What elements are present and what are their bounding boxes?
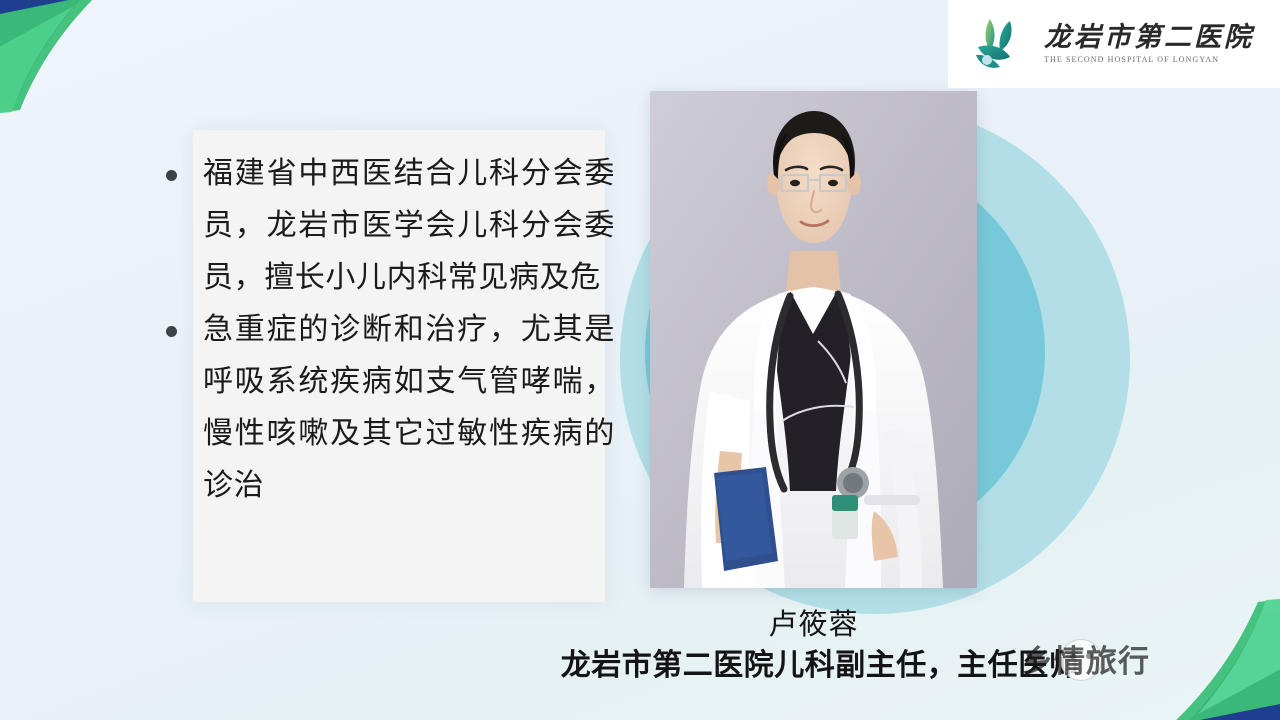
corner-swoosh-decoration-topleft — [0, 0, 140, 114]
portrait-illustration — [650, 91, 977, 588]
hospital-logo-panel: 龙岩市第二医院 THE SECOND HOSPITAL OF LONGYAN — [948, 0, 1280, 88]
doctor-portrait — [650, 91, 977, 588]
watermark-text: 乡情旅行 — [1022, 636, 1150, 681]
portrait-caption-name: 卢筱蓉 — [650, 601, 977, 643]
bio-bullet-list: 福建省中西医结合儿科分会委员，龙岩市医学会儿科分会委员，擅长小儿内科常见病及危 … — [160, 148, 615, 512]
bullet-text: 福建省中西医结合儿科分会委员，龙岩市医学会儿科分会委员，擅长小儿内科常见病及危 — [203, 156, 615, 295]
leaf-logo-icon — [970, 15, 1032, 73]
hospital-logo-title: 龙岩市第二医院 — [1044, 24, 1254, 52]
list-item: 急重症的诊断和治疗，尤其是呼吸系统疾病如支气管哮喘，慢性咳嗽及其它过敏性疾病的诊… — [160, 304, 615, 512]
list-item: 福建省中西医结合儿科分会委员，龙岩市医学会儿科分会委员，擅长小儿内科常见病及危 — [160, 148, 615, 304]
presentation-slide: 福建省中西医结合儿科分会委员，龙岩市医学会儿科分会委员，擅长小儿内科常见病及危 … — [0, 0, 1280, 720]
bullet-dot-icon — [166, 170, 177, 181]
bullet-text: 急重症的诊断和治疗，尤其是呼吸系统疾病如支气管哮喘，慢性咳嗽及其它过敏性疾病的诊… — [203, 312, 615, 503]
hospital-logo-subtitle: THE SECOND HOSPITAL OF LONGYAN — [1044, 55, 1254, 64]
bullet-dot-icon — [166, 326, 177, 337]
